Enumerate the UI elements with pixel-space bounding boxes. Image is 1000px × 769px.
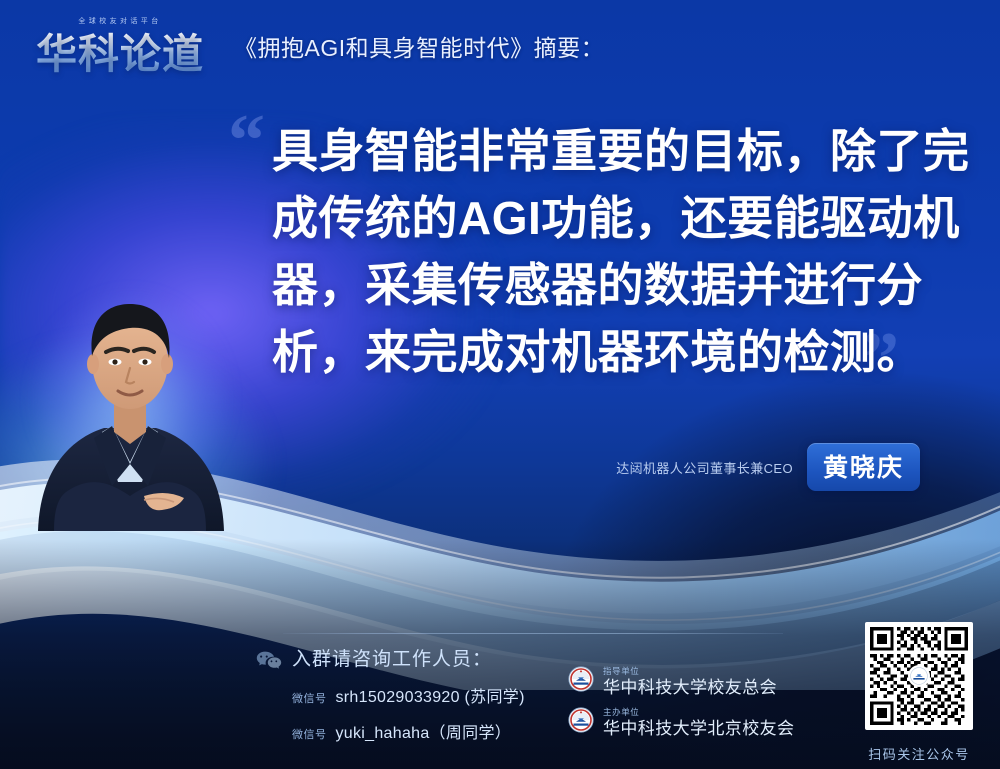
qr-caption: 扫码关注公众号 [848, 744, 990, 763]
qr-section: 扫码关注公众号 [848, 622, 990, 763]
attribution: 达闼机器人公司董事长兼CEO 黄晓庆 [616, 443, 920, 491]
contact-heading: 入群请咨询工作人员： [292, 644, 525, 671]
quote-text: 具身智能非常重要的目标，除了完 成传统的AGI功能，还要能驱动机 器，采集传感器… [272, 118, 944, 386]
speaker-role: 达闼机器人公司董事长兼CEO [616, 458, 793, 477]
logo-wordmark: 华科论道 [22, 25, 218, 75]
poster-canvas: 全球校友对话平台 华科论道 《拥抱AGI和具身智能时代》摘要： [0, 0, 1000, 769]
qr-code-icon[interactable] [865, 622, 973, 730]
contact-value: srh15029033920 (苏同学) [336, 683, 525, 707]
quote-line: 具身智能非常重要的目标，除了完 [272, 118, 944, 185]
organization-name: 华中科技大学校友总会 [603, 679, 777, 696]
quote-line: 成传统的AGI功能，还要能驱动机 [272, 185, 944, 252]
organization-row: 指导单位 华中科技大学校友总会 [568, 666, 794, 697]
qr-center-logo [908, 665, 930, 687]
contact-label: 微信号 [292, 726, 327, 742]
wechat-icon [256, 650, 282, 675]
university-seal-icon [568, 666, 594, 697]
contact-row[interactable]: 微信号 srh15029033920 (苏同学) [292, 683, 525, 707]
page-title: 《拥抱AGI和具身智能时代》摘要： [234, 29, 604, 63]
quote-open-mark: “ [228, 104, 265, 178]
organization-kind: 指导单位 [603, 667, 777, 676]
organization-row: 主办单位 华中科技大学北京校友会 [568, 707, 794, 738]
organization-list: 指导单位 华中科技大学校友总会 主 [568, 666, 794, 738]
university-seal-icon [568, 707, 594, 738]
contact-list: 入群请咨询工作人员： 微信号 srh15029033920 (苏同学) 微信号 … [292, 644, 525, 755]
brand-logo[interactable]: 全球校友对话平台 华科论道 [22, 14, 218, 78]
quote-line: 析，来完成对机器环境的检测。 [272, 319, 944, 386]
organization-kind: 主办单位 [603, 708, 794, 717]
organization-name: 华中科技大学北京校友会 [603, 720, 794, 737]
contact-row[interactable]: 微信号 yuki_hahaha（周同学） [292, 719, 525, 743]
speaker-portrait [26, 286, 234, 531]
header-bar: 全球校友对话平台 华科论道 《拥抱AGI和具身智能时代》摘要： [0, 0, 1000, 92]
contact-value: yuki_hahaha（周同学） [336, 719, 512, 743]
footer-divider [283, 633, 783, 634]
speaker-name-badge: 黄晓庆 [807, 443, 920, 491]
quote-line: 器，采集传感器的数据并进行分 [272, 252, 944, 319]
contact-label: 微信号 [292, 690, 327, 706]
